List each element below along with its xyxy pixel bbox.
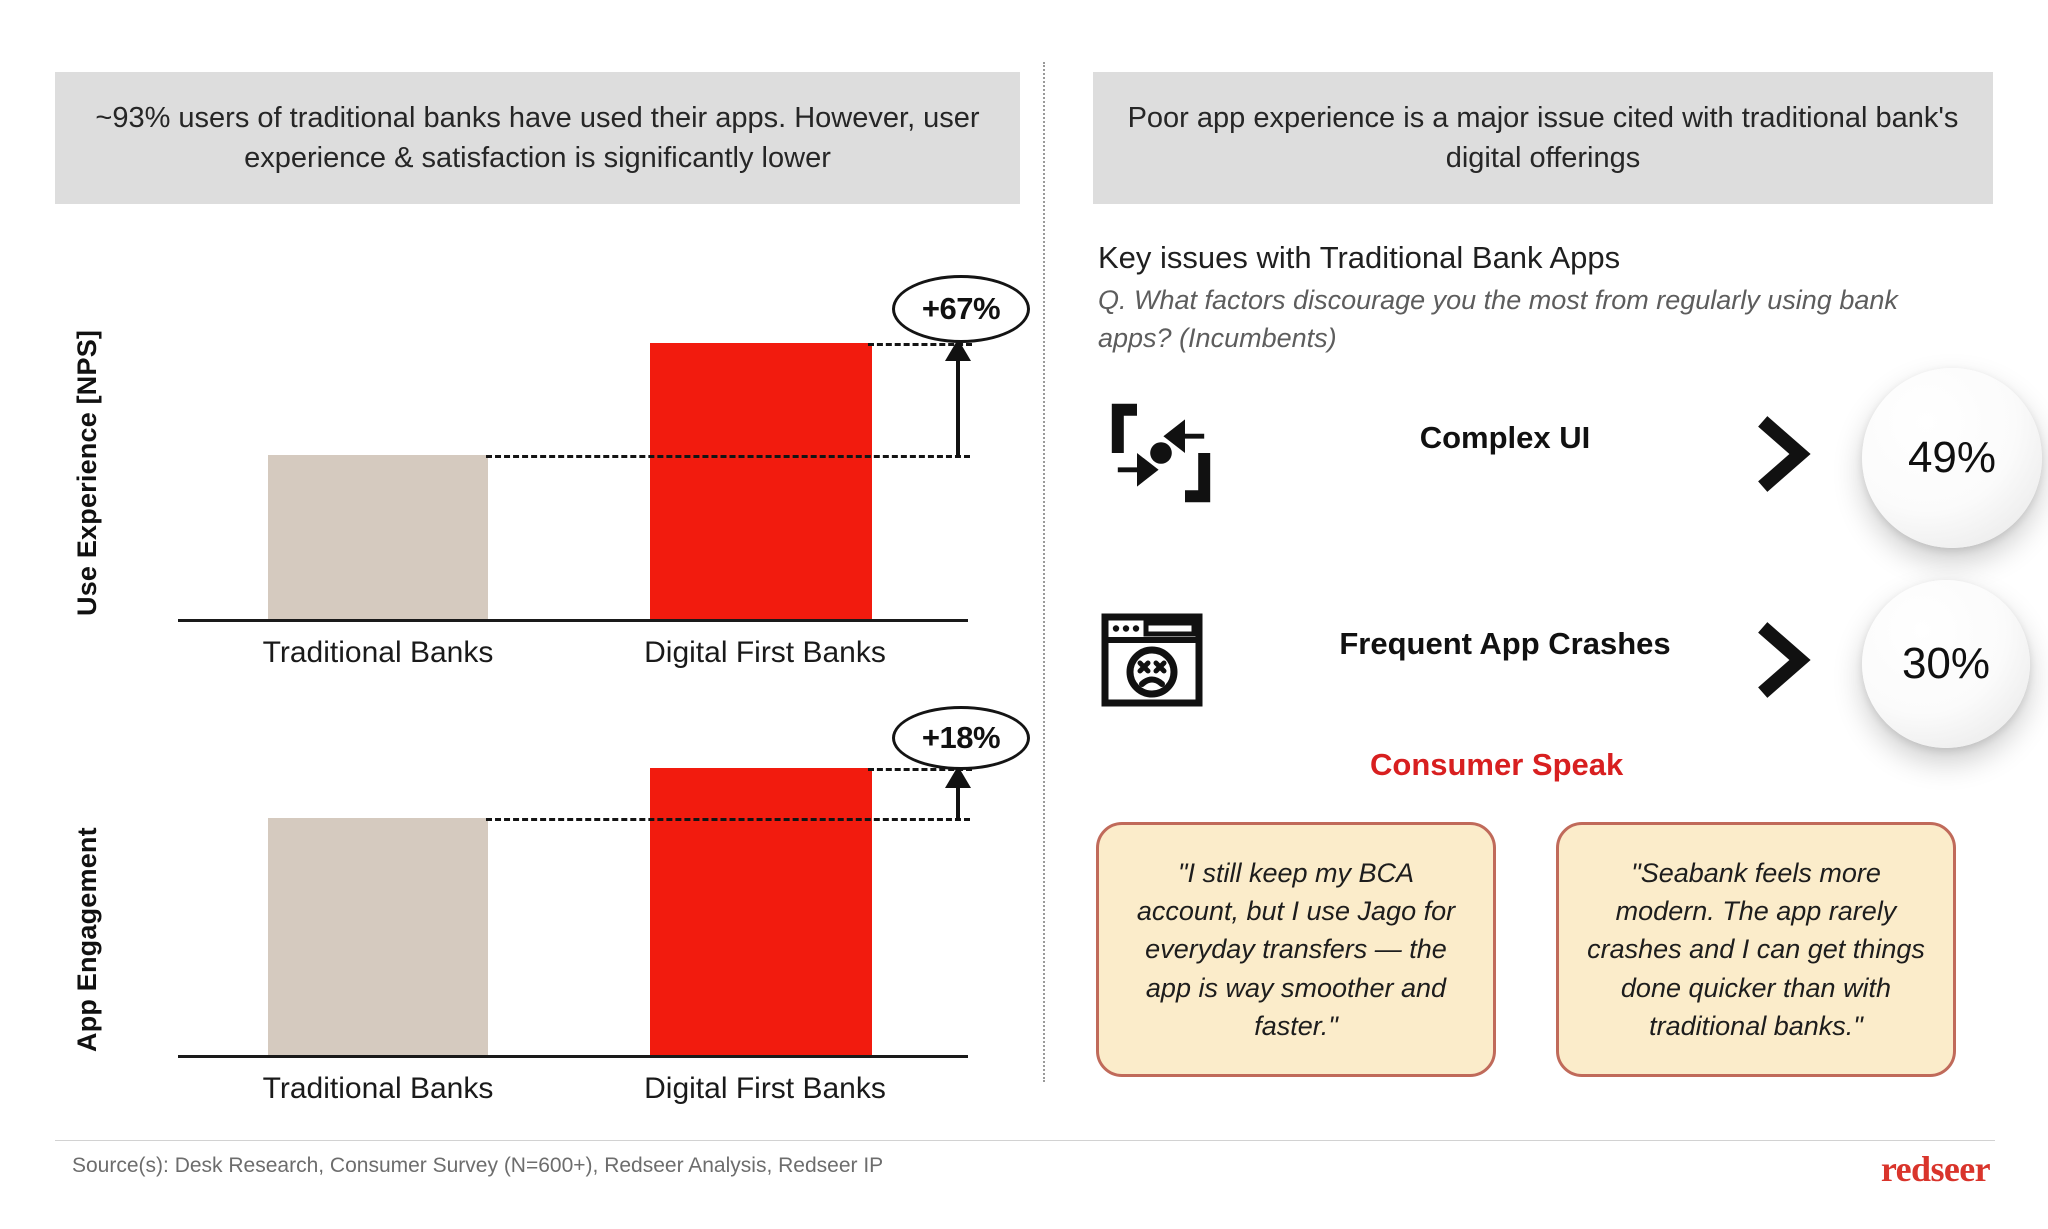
consumer-quote-card: "I still keep my BCA account, but I use … — [1096, 822, 1496, 1077]
bar-digital-first-banks-nps — [650, 343, 872, 619]
chevron-right-icon — [1750, 416, 1820, 492]
left-header-banner: ~93% users of traditional banks have use… — [55, 72, 1020, 204]
chart-baseline-top — [178, 619, 968, 622]
leader-line-traditional-nps — [486, 455, 970, 458]
slide-root: ~93% users of traditional banks have use… — [0, 0, 2048, 1229]
consumer-speak-title: Consumer Speak — [1370, 747, 1623, 783]
source-note: Source(s): Desk Research, Consumer Surve… — [72, 1154, 883, 1178]
complex-ui-icon — [1098, 390, 1224, 516]
stat-circle-complex-ui: 49% — [1862, 368, 2042, 548]
growth-arrow-shaft-engagement — [956, 785, 960, 821]
leader-line-traditional-engagement — [486, 818, 970, 821]
right-header-banner: Poor app experience is a major issue cit… — [1093, 72, 1993, 204]
x-tick-traditional-banks-nps: Traditional Banks — [248, 636, 508, 670]
footer-divider — [55, 1140, 1995, 1141]
bar-traditional-banks-nps — [268, 455, 488, 619]
right-header-text: Poor app experience is a major issue cit… — [1115, 98, 1971, 178]
x-tick-digital-first-banks-nps: Digital First Banks — [620, 636, 910, 670]
x-tick-digital-first-banks-engagement: Digital First Banks — [620, 1072, 910, 1106]
panel-divider — [1043, 62, 1045, 1082]
badge-engagement-growth: +18% — [892, 706, 1030, 770]
app-crash-icon — [1098, 606, 1206, 714]
chart-baseline-bottom — [178, 1055, 968, 1058]
growth-arrow-shaft-nps — [956, 358, 960, 457]
consumer-quote-text: "I still keep my BCA account, but I use … — [1125, 854, 1467, 1046]
y-axis-label-app-engagement: App Engagement — [72, 790, 103, 1090]
key-issues-title: Key issues with Traditional Bank Apps — [1098, 240, 1620, 276]
survey-question-text: Q. What factors discourage you the most … — [1098, 281, 1898, 358]
left-header-text: ~93% users of traditional banks have use… — [77, 98, 998, 178]
x-tick-traditional-banks-engagement: Traditional Banks — [248, 1072, 508, 1106]
issue-label-app-crashes: Frequent App Crashes — [1260, 626, 1750, 662]
bar-digital-first-banks-engagement — [650, 768, 872, 1055]
consumer-quote-text: "Seabank feels more modern. The app rare… — [1585, 854, 1927, 1046]
redseer-logo: redseer — [1881, 1148, 1990, 1190]
issue-row-app-crashes[interactable]: Frequent App Crashes 30% — [1090, 578, 1970, 748]
y-axis-label-use-experience: Use Experience [NPS] — [72, 318, 103, 628]
badge-nps-growth: +67% — [892, 275, 1030, 343]
chevron-right-icon — [1750, 622, 1820, 698]
bar-traditional-banks-engagement — [268, 818, 488, 1055]
consumer-quote-card: "Seabank feels more modern. The app rare… — [1556, 822, 1956, 1077]
issue-row-complex-ui[interactable]: Complex UI 49% — [1090, 372, 1970, 542]
stat-circle-app-crashes: 30% — [1862, 580, 2030, 748]
issue-label-complex-ui: Complex UI — [1275, 420, 1735, 456]
